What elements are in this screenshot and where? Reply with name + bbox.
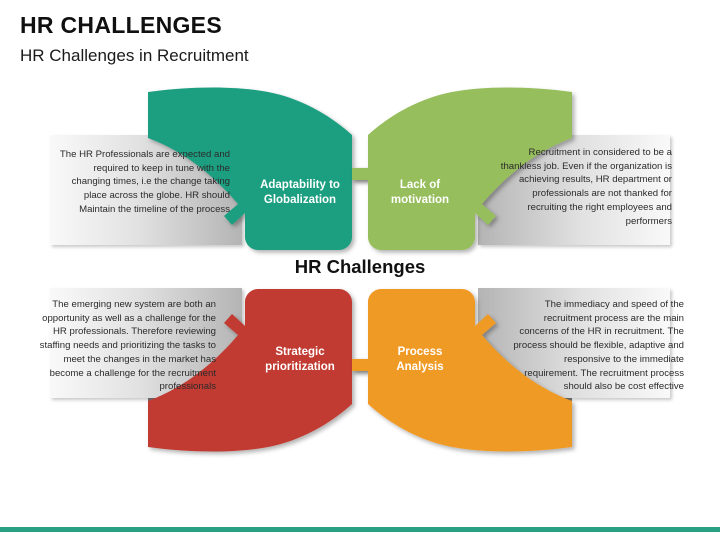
label-line-2: Analysis: [360, 360, 480, 375]
label-line-2: motivation: [360, 193, 480, 208]
label-line-2: Globalization: [240, 193, 360, 208]
description-top-left: The HR Professionals are expected and re…: [52, 148, 230, 217]
label-line-2: prioritization: [240, 360, 360, 375]
label-process-analysis[interactable]: Process Analysis: [360, 345, 480, 376]
bottom-accent-bar: [0, 527, 720, 532]
label-line-1: Adaptability to: [240, 178, 360, 193]
label-line-1: Process: [360, 345, 480, 360]
slide-canvas: HR CHALLENGES HR Challenges in Recruitme…: [0, 0, 720, 540]
label-line-1: Strategic: [240, 345, 360, 360]
description-bottom-left: The emerging new system are both an oppo…: [36, 298, 216, 394]
label-lack-of-motivation[interactable]: Lack of motivation: [360, 178, 480, 209]
description-top-right: Recruitment in considered to be a thankl…: [492, 146, 672, 228]
center-heading: HR Challenges: [0, 256, 720, 278]
label-adaptability-to-globalization[interactable]: Adaptability to Globalization: [240, 178, 360, 209]
description-bottom-right: The immediacy and speed of the recruitme…: [508, 298, 684, 394]
label-line-1: Lack of: [360, 178, 480, 193]
label-strategic-prioritization[interactable]: Strategic prioritization: [240, 345, 360, 376]
